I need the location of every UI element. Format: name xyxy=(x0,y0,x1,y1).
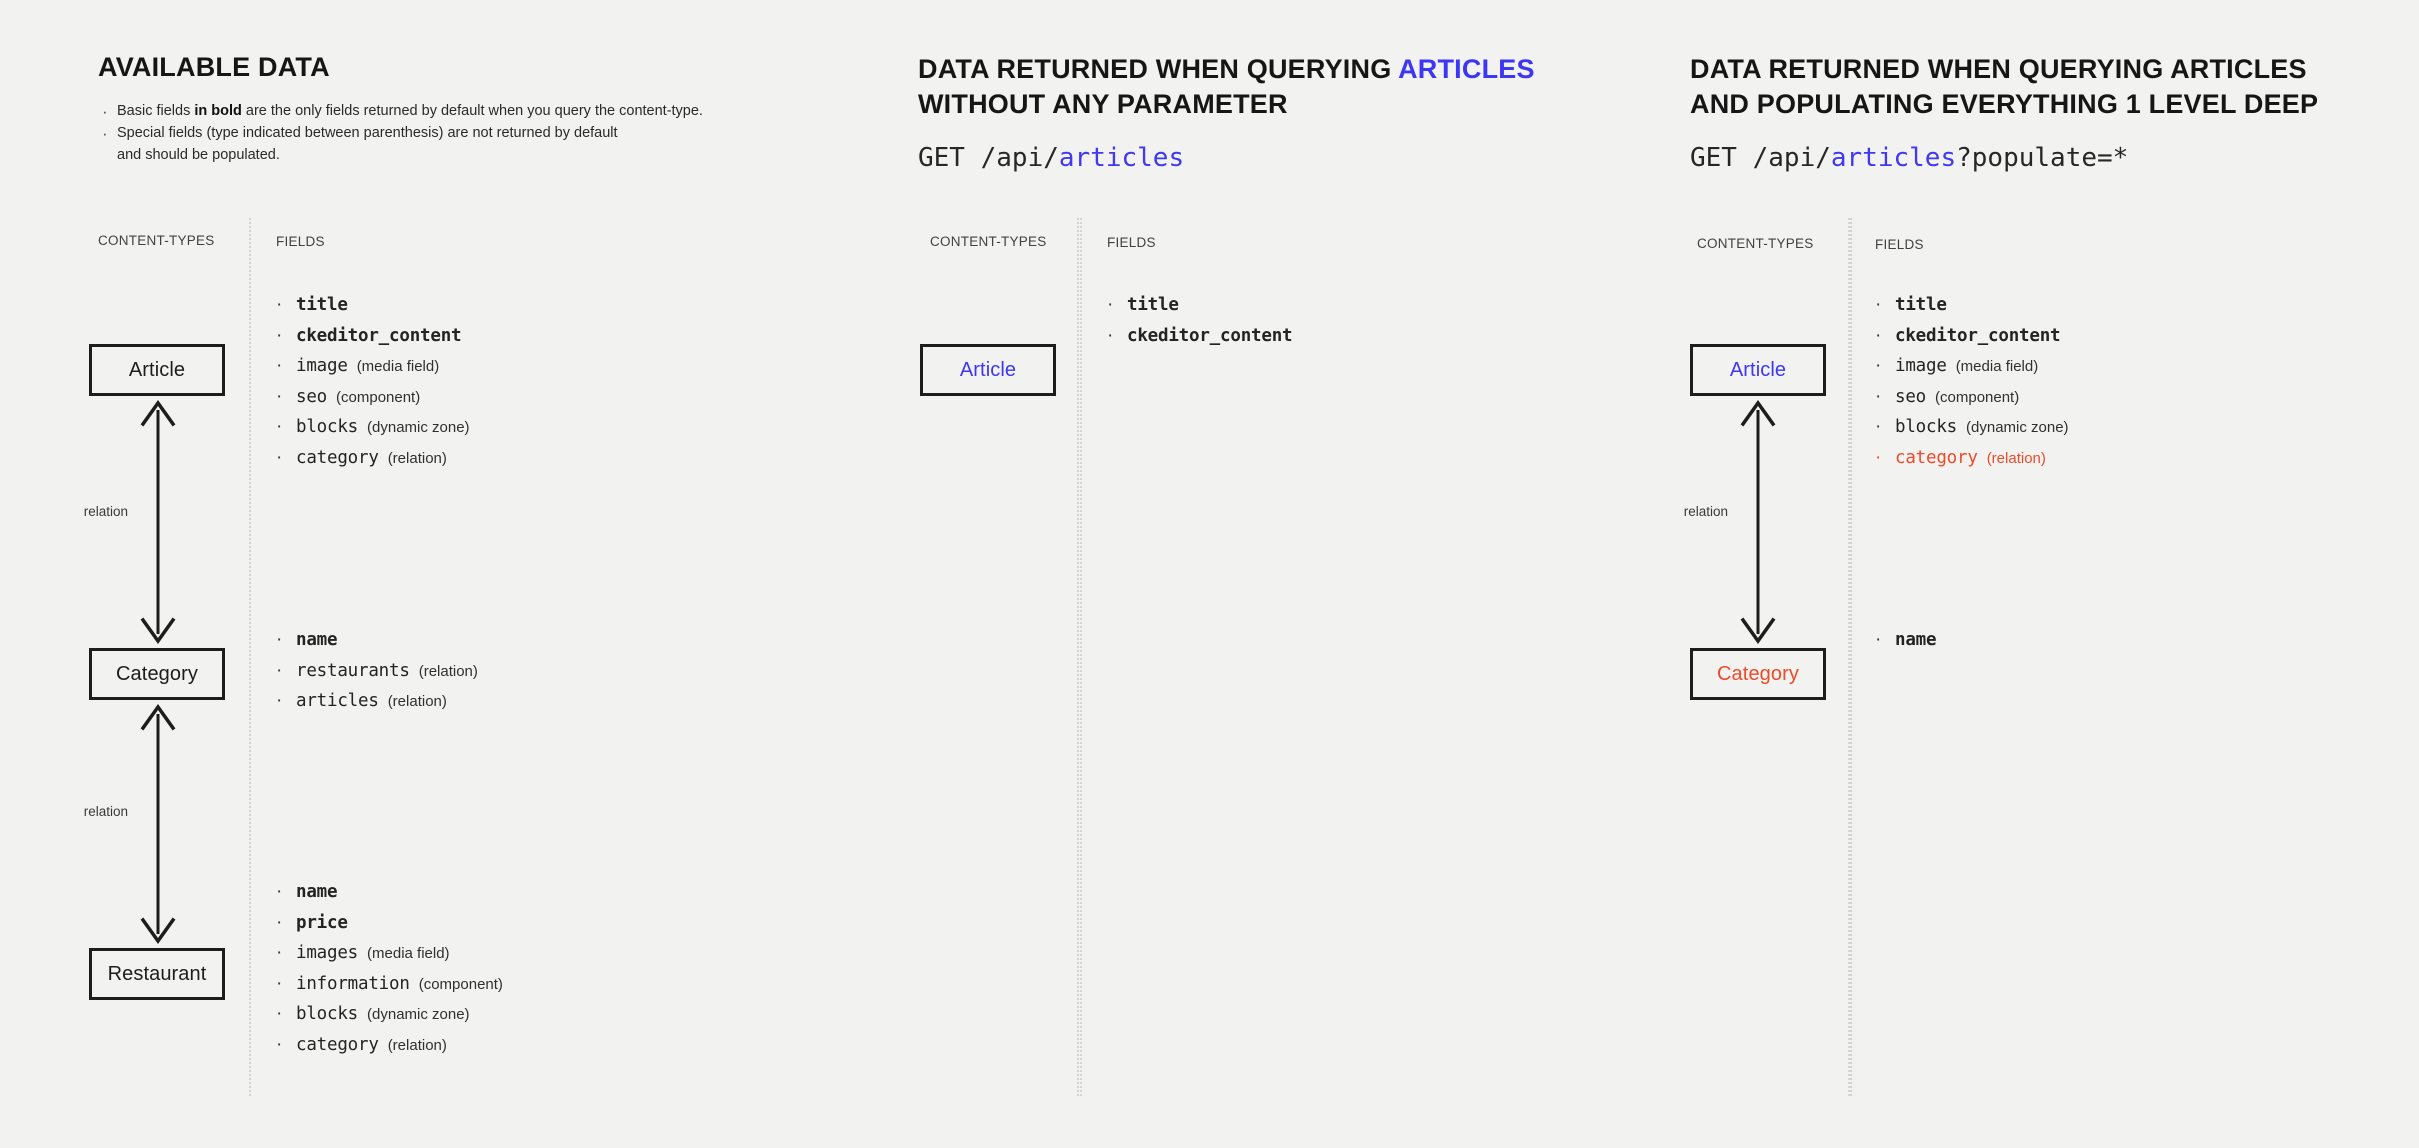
field-name: ckeditor_content xyxy=(296,326,461,346)
relation-label-article-category: relation xyxy=(48,504,128,519)
field-name: seo xyxy=(1895,387,1926,407)
panel-1-inner-separator xyxy=(249,218,251,1096)
field-row: title xyxy=(272,290,470,321)
panel-1-title: AVAILABLE DATA xyxy=(98,50,330,85)
field-name: name xyxy=(1895,630,1936,650)
field-type: (relation) xyxy=(388,693,447,710)
panel-3-inner-separator xyxy=(1848,218,1850,1096)
panel-3-title: DATA RETURNED WHEN QUERYING ARTICLES AND… xyxy=(1690,52,2318,121)
field-list-category: name xyxy=(1871,625,1945,656)
field-name: blocks xyxy=(296,1004,358,1024)
field-type: (media field) xyxy=(1956,358,2039,375)
field-name: category xyxy=(296,1035,379,1055)
relation-label-category-restaurant: relation xyxy=(48,804,128,819)
panel-3-endpoint-path-accent: articles xyxy=(1831,143,1956,173)
panel-1-col-header-content-types: CONTENT-TYPES xyxy=(98,233,215,248)
field-row: articles(relation) xyxy=(272,686,478,717)
panel-3-endpoint-method: GET xyxy=(1690,143,1737,173)
intro-bullet-2-cont: and should be populated. xyxy=(117,145,858,166)
intro-bullet-1: Basic fields in bold are the only fields… xyxy=(98,101,858,122)
panel-2-title-line1: DATA RETURNED WHEN QUERYING ARTICLES xyxy=(918,52,1535,87)
field-type: (dynamic zone) xyxy=(367,1006,470,1023)
field-type: (relation) xyxy=(388,1037,447,1054)
field-row-highlighted: category(relation) xyxy=(1871,443,2069,474)
field-type: (component) xyxy=(419,976,503,993)
field-name: information xyxy=(296,974,410,994)
panel-2-title: DATA RETURNED WHEN QUERYING ARTICLES WIT… xyxy=(918,52,1535,121)
relation-arrow-category-restaurant xyxy=(118,700,198,953)
panel-3-title-line2: AND POPULATING EVERYTHING 1 LEVEL DEEP xyxy=(1690,87,2318,122)
entity-box-article-label: Article xyxy=(960,359,1016,382)
field-row: name xyxy=(272,625,478,656)
field-name: blocks xyxy=(1895,417,1957,437)
intro-bullets: Basic fields in bold are the only fields… xyxy=(98,101,858,167)
panel-query-without-parameter: DATA RETURNED WHEN QUERYING ARTICLES WIT… xyxy=(1075,0,1690,1148)
panel-2-title-line2: WITHOUT ANY PARAMETER xyxy=(918,87,1535,122)
entity-box-category[interactable]: Category xyxy=(89,648,225,700)
panel-3-col-header-fields: FIELDS xyxy=(1875,237,1924,252)
field-row: name xyxy=(272,877,503,908)
field-row: blocks(dynamic zone) xyxy=(272,999,503,1030)
field-list-article: title ckeditor_content xyxy=(1103,290,1301,351)
field-row: category(relation) xyxy=(272,1030,503,1061)
field-name: blocks xyxy=(296,417,358,437)
intro-bullet-2-pre: Special fields (type indicated between p… xyxy=(117,125,618,141)
field-row: category(relation) xyxy=(272,443,470,474)
field-type: (media field) xyxy=(367,945,450,962)
panel-1-col-header-fields: FIELDS xyxy=(276,234,325,249)
panel-2-col-header-fields: FIELDS xyxy=(1107,235,1156,250)
field-row: ckeditor_content xyxy=(1871,321,2069,352)
relation-arrow-article-category-svg xyxy=(1718,396,1798,648)
field-row: restaurants(relation) xyxy=(272,656,478,687)
field-row: seo(component) xyxy=(272,382,470,413)
field-name: title xyxy=(1895,295,1947,315)
intro-bullet-2: Special fields (type indicated between p… xyxy=(98,123,858,166)
panel-query-populate-one-level: DATA RETURNED WHEN QUERYING ARTICLES AND… xyxy=(1690,0,2419,1148)
field-row: blocks(dynamic zone) xyxy=(1871,412,2069,443)
panel-2-endpoint-path-accent: articles xyxy=(1059,143,1184,173)
field-row: title xyxy=(1103,290,1301,321)
panel-3-endpoint-path-post: ?populate=* xyxy=(1956,143,2128,173)
panel-1-title-text: AVAILABLE DATA xyxy=(98,52,330,82)
entity-box-article[interactable]: Article xyxy=(1690,344,1826,396)
entity-box-category[interactable]: Category xyxy=(1690,648,1826,700)
relation-arrow-category-restaurant-svg xyxy=(118,700,198,948)
panel-3-endpoint: GET /api/articles?populate=* xyxy=(1690,143,2128,173)
field-row: title xyxy=(1871,290,2069,321)
field-type: (dynamic zone) xyxy=(367,419,470,436)
field-type: (dynamic zone) xyxy=(1966,419,2069,436)
entity-box-article-label: Article xyxy=(1730,359,1786,382)
entity-box-article-label: Article xyxy=(129,359,185,382)
panel-2-title-line1-pre: DATA RETURNED WHEN QUERYING xyxy=(918,54,1398,84)
field-type: (relation) xyxy=(1987,450,2046,467)
intro-bullet-1-bold: in bold xyxy=(194,103,242,119)
field-name: images xyxy=(296,943,358,963)
field-name: title xyxy=(1127,295,1179,315)
entity-box-article[interactable]: Article xyxy=(920,344,1056,396)
relation-arrow-article-category xyxy=(118,396,198,653)
field-name: name xyxy=(296,630,337,650)
field-name: ckeditor_content xyxy=(1895,326,2060,346)
field-name: category xyxy=(1895,448,1978,468)
intro-bullet-1-post: are the only fields returned by default … xyxy=(242,103,703,119)
panel-3-title-line1: DATA RETURNED WHEN QUERYING ARTICLES xyxy=(1690,52,2318,87)
field-list-article: title ckeditor_content image(media field… xyxy=(272,290,470,473)
relation-label-article-category: relation xyxy=(1648,504,1728,519)
field-name: articles xyxy=(296,691,379,711)
panel-2-endpoint-method: GET xyxy=(918,143,965,173)
diagram-canvas: AVAILABLE DATA Basic fields in bold are … xyxy=(0,0,2419,1148)
panel-2-col-header-content-types: CONTENT-TYPES xyxy=(930,234,1047,249)
field-name: seo xyxy=(296,387,327,407)
field-name: category xyxy=(296,448,379,468)
relation-arrow-article-category-svg xyxy=(118,396,198,648)
relation-arrow-article-category xyxy=(1718,396,1798,653)
field-type: (component) xyxy=(1935,389,2019,406)
panel-available-data: AVAILABLE DATA Basic fields in bold are … xyxy=(0,0,1075,1148)
field-list-article: title ckeditor_content image(media field… xyxy=(1871,290,2069,473)
panel-2-inner-separator xyxy=(1080,218,1082,1096)
field-type: (component) xyxy=(336,389,420,406)
field-name: ckeditor_content xyxy=(1127,326,1292,346)
panel-3-col-header-content-types: CONTENT-TYPES xyxy=(1697,236,1814,251)
field-row: blocks(dynamic zone) xyxy=(272,412,470,443)
field-type: (relation) xyxy=(419,663,478,680)
field-list-restaurant: name price images(media field) informati… xyxy=(272,877,503,1060)
panel-3-endpoint-path-pre: /api/ xyxy=(1737,143,1831,173)
field-row: image(media field) xyxy=(1871,351,2069,382)
entity-box-restaurant-label: Restaurant xyxy=(108,963,207,986)
field-name: title xyxy=(296,295,348,315)
field-name: image xyxy=(296,356,348,376)
field-name: image xyxy=(1895,356,1947,376)
entity-box-article[interactable]: Article xyxy=(89,344,225,396)
panel-2-endpoint: GET /api/articles xyxy=(918,143,1184,173)
field-name: price xyxy=(296,913,348,933)
entity-box-category-label: Category xyxy=(116,663,198,686)
field-row: image(media field) xyxy=(272,351,470,382)
field-type: (media field) xyxy=(357,358,440,375)
entity-box-restaurant[interactable]: Restaurant xyxy=(89,948,225,1000)
panel-2-title-line1-accent: ARTICLES xyxy=(1398,54,1535,84)
field-name: restaurants xyxy=(296,661,410,681)
field-row: ckeditor_content xyxy=(1103,321,1301,352)
field-row: information(component) xyxy=(272,969,503,1000)
field-name: name xyxy=(296,882,337,902)
field-row: seo(component) xyxy=(1871,382,2069,413)
entity-box-category-label: Category xyxy=(1717,663,1799,686)
field-list-category: name restaurants(relation) articles(rela… xyxy=(272,625,478,717)
field-type: (relation) xyxy=(388,450,447,467)
intro-bullet-1-pre: Basic fields xyxy=(117,103,194,119)
field-row: price xyxy=(272,908,503,939)
field-row: name xyxy=(1871,625,1945,656)
field-row: images(media field) xyxy=(272,938,503,969)
field-row: ckeditor_content xyxy=(272,321,470,352)
panel-2-endpoint-path-pre: /api/ xyxy=(965,143,1059,173)
